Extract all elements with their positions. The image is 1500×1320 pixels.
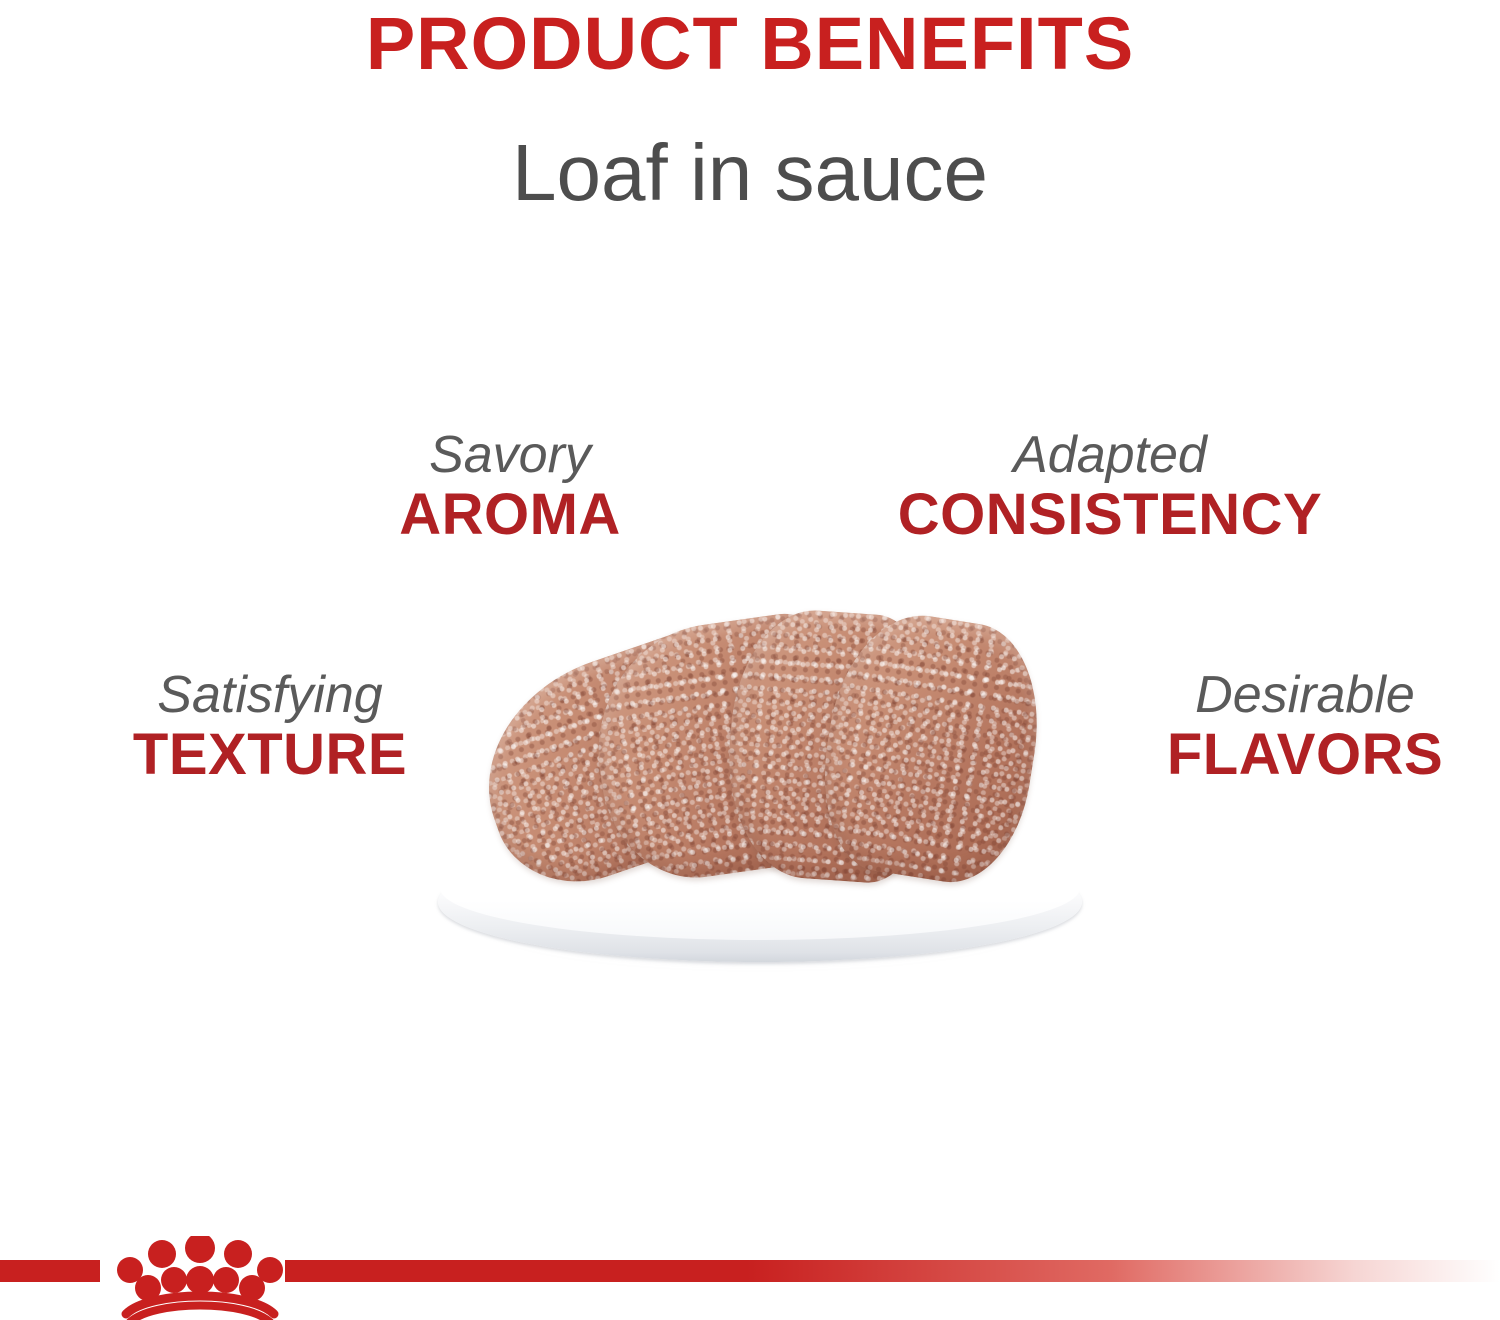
footer bbox=[0, 1236, 1500, 1320]
header: PRODUCT BENEFITS Loaf in sauce bbox=[0, 0, 1500, 213]
benefit-aroma-noun: AROMA bbox=[350, 483, 670, 548]
benefit-aroma: Savory AROMA bbox=[350, 428, 670, 548]
benefit-flavors-adjective: Desirable bbox=[1110, 668, 1500, 723]
footer-rule-right bbox=[285, 1260, 1500, 1282]
benefit-texture-adjective: Satisfying bbox=[75, 668, 465, 723]
page-subtitle: Loaf in sauce bbox=[0, 81, 1500, 213]
benefit-consistency: Adapted CONSISTENCY bbox=[880, 428, 1340, 548]
benefit-flavors-noun: FLAVORS bbox=[1110, 723, 1500, 788]
benefit-aroma-adjective: Savory bbox=[350, 428, 670, 483]
benefit-texture-noun: TEXTURE bbox=[75, 723, 465, 788]
benefit-texture: Satisfying TEXTURE bbox=[75, 668, 465, 788]
page-title: PRODUCT BENEFITS bbox=[0, 0, 1500, 81]
product-food-image bbox=[430, 600, 1090, 1000]
benefit-flavors: Desirable FLAVORS bbox=[1110, 668, 1500, 788]
royal-canin-crown-icon bbox=[112, 1236, 288, 1320]
benefit-consistency-noun: CONSISTENCY bbox=[880, 483, 1340, 548]
footer-rule-left bbox=[0, 1260, 100, 1282]
benefit-consistency-adjective: Adapted bbox=[880, 428, 1340, 483]
product-benefits-panel: PRODUCT BENEFITS Loaf in sauce Savory AR… bbox=[0, 0, 1500, 1320]
